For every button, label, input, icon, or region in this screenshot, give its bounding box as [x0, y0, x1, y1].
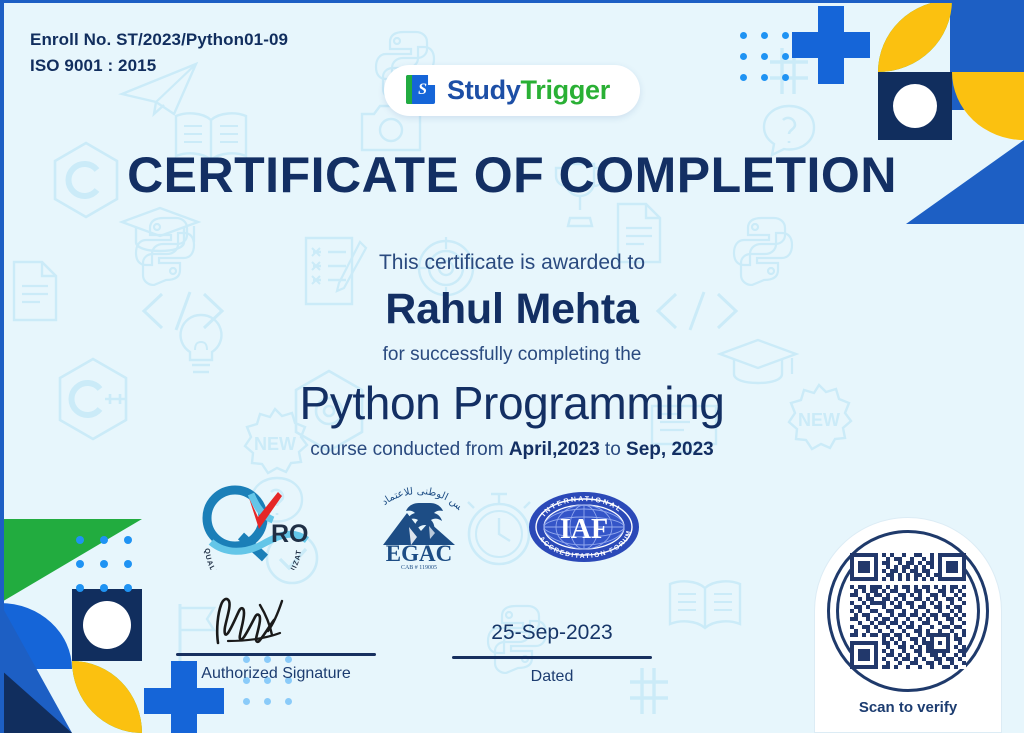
awarded-to-label: This certificate is awarded to [0, 251, 1024, 275]
brand-wordmark: StudyTrigger [447, 75, 610, 106]
recipient-name: Rahul Mehta [0, 285, 1024, 334]
scan-to-verify-label: Scan to verify [859, 699, 957, 716]
iso-standard: ISO 9001 : 2015 [30, 53, 288, 79]
signature-rule [176, 653, 376, 656]
course-name: Python Programming [0, 376, 1024, 430]
qr-ring-frame [827, 530, 989, 692]
frame-left-edge [0, 0, 4, 733]
signature-mark [176, 585, 376, 653]
graduation-cap-icon [118, 202, 202, 256]
date-value: 25-Sep-2023 [452, 585, 652, 656]
quarter-circle-yellow [952, 72, 1024, 140]
duration-prefix: course conducted from [310, 439, 509, 460]
signature-cell: Authorized Signature [176, 585, 376, 686]
circle-in-square-motif [878, 72, 952, 140]
studytrigger-mark-icon: S [406, 74, 438, 106]
qr-verify-panel[interactable]: Scan to verify [814, 517, 1002, 733]
leaf-motif-top [878, 0, 952, 72]
page-title: CERTIFICATE OF COMPLETION [0, 146, 1024, 204]
brand-name-study: Study [447, 75, 521, 105]
signature-caption: Authorized Signature [176, 665, 376, 683]
iaf-wordmark: IAF [560, 514, 608, 545]
enroll-number: Enroll No. ST/2023/Python01-09 [30, 27, 288, 53]
date-rule [452, 656, 652, 659]
completing-label: for successfully completing the [0, 344, 1024, 366]
dot-grid-top-right [740, 32, 789, 81]
qro-letters: RO [271, 520, 309, 548]
date-caption: Dated [452, 668, 652, 686]
brand-logo: S StudyTrigger [384, 65, 640, 116]
qro-logo: RO QUALITY RESEARCH ORGANIZATION [193, 484, 311, 575]
duration-joiner: to [600, 439, 626, 460]
egac-logo: المجلس الوطنى للاعتماد EGAC CAB # 119005 [367, 483, 471, 576]
plus-shape-blue [792, 6, 870, 84]
date-cell: 25-Sep-2023 Dated [452, 585, 652, 686]
brand-name-trigger: Trigger [521, 75, 610, 105]
frame-top-edge [0, 0, 1024, 3]
duration-end: Sep, 2023 [626, 439, 714, 460]
egac-wordmark: EGAC [386, 541, 452, 566]
duration-start: April,2023 [509, 439, 600, 460]
course-duration: course conducted from April,2023 to Sep,… [0, 439, 1024, 461]
qr-code-image[interactable] [850, 553, 966, 669]
certificate-page: NEW NEW [0, 0, 1024, 733]
iaf-logo: IAF INTERNATIONAL ACCREDITATION FORUM [527, 489, 641, 570]
egac-cab-number: CAB # 119005 [401, 565, 437, 571]
enrollment-block: Enroll No. ST/2023/Python01-09 ISO 9001 … [30, 27, 288, 80]
